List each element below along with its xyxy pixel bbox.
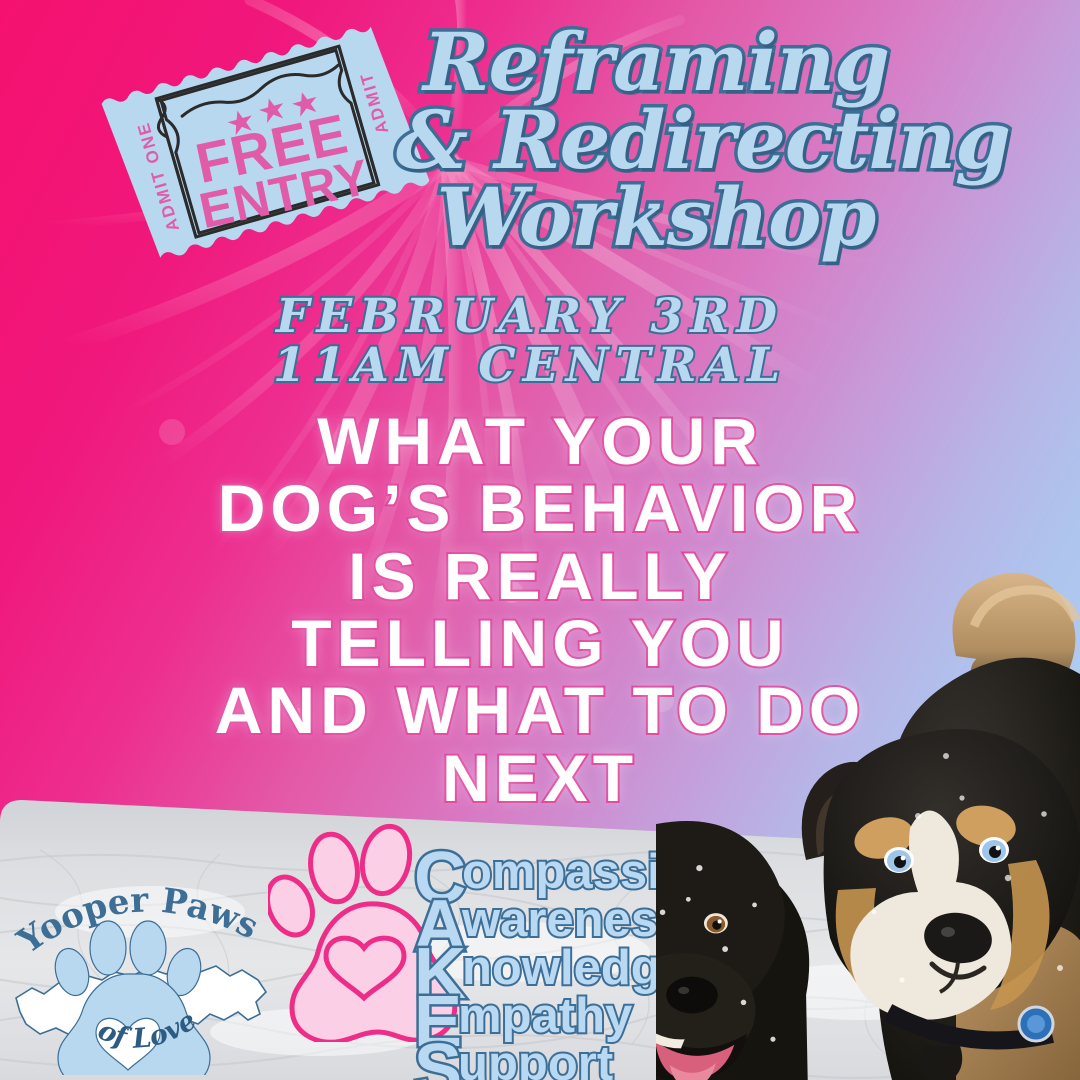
event-date: FEBRUARY 3RD <box>180 292 880 341</box>
two-dogs-in-snow-photo <box>656 560 1080 1080</box>
black-lab-dog <box>656 821 810 1080</box>
event-time: 11AM CENTRAL <box>180 341 880 390</box>
cakes-rest-support: upport <box>458 1037 613 1080</box>
yooper-paws-of-love-logo: Yooper Paws of Love <box>10 880 272 1075</box>
event-datetime: FEBRUARY 3RD 11AM CENTRAL <box>180 292 880 391</box>
tricolor-dog <box>802 573 1080 1080</box>
message-line-1: WHAT YOUR <box>80 408 1000 475</box>
message-line-2: DOG’S BEHAVIOR <box>80 475 1000 542</box>
workshop-title: Reframing & Redirecting Workshop <box>396 24 916 257</box>
title-line-1: Reframing <box>396 24 916 102</box>
cakes-cap-s: S <box>414 1030 462 1080</box>
title-line-2: & Redirecting <box>396 102 916 180</box>
poster-canvas: FREE ENTRY ADMIT ONE ADMIT Reframing & R… <box>0 0 1080 1080</box>
title-line-3: Workshop <box>396 179 916 257</box>
